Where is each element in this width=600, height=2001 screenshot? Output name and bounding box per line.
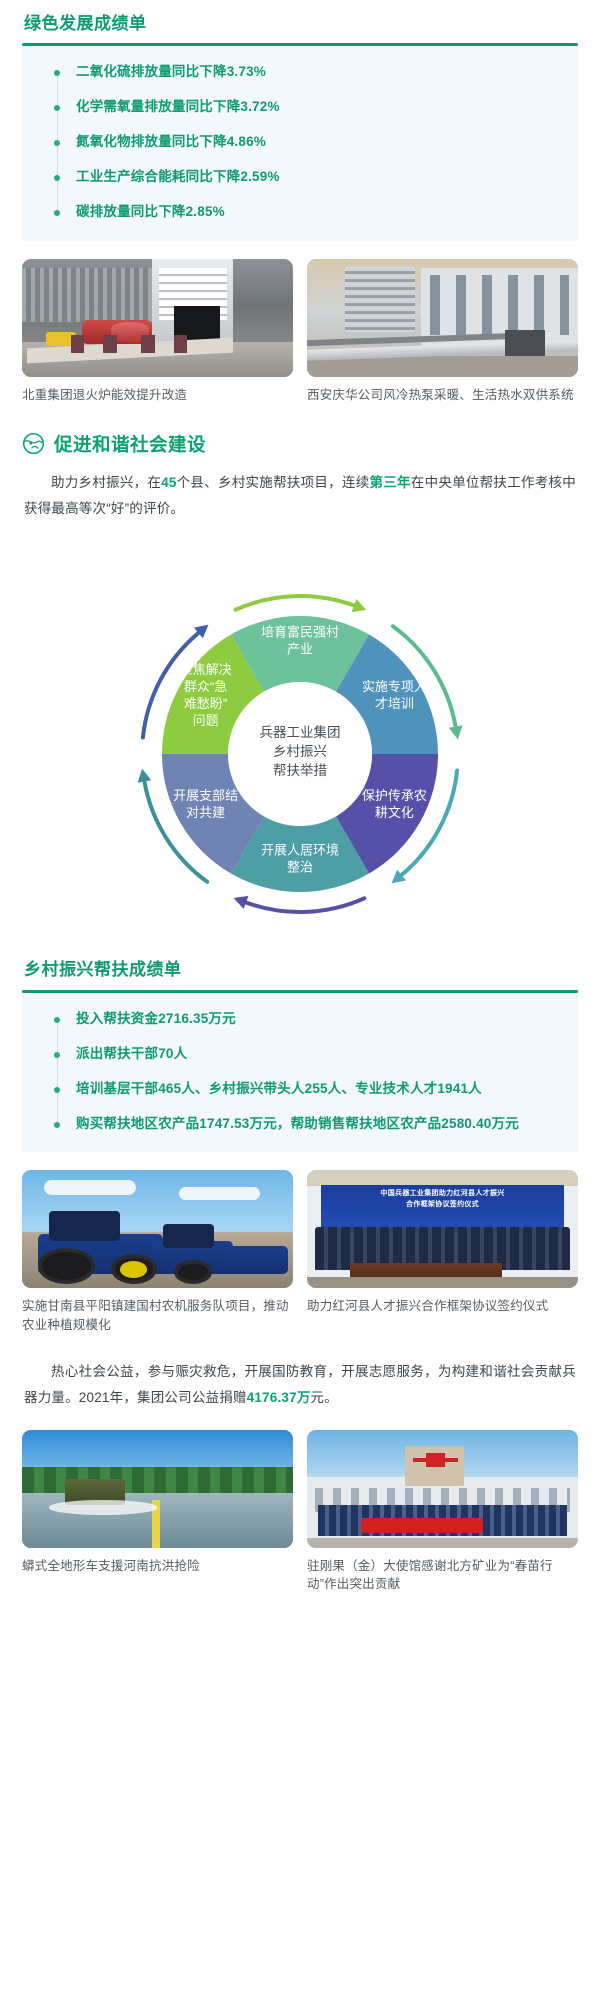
photo-cell: 北重集团退火炉能效提升改造 xyxy=(22,259,293,405)
green-scorecard-body: 二氧化硫排放量同比下降3.73% 化学需氧量排放量同比下降3.72% 氮氧化物排… xyxy=(22,46,578,241)
green-bullet-list: 二氧化硫排放量同比下降3.73% 化学需氧量排放量同比下降3.72% 氮氧化物排… xyxy=(54,62,560,223)
rural-bullet-list: 投入帮扶资金2716.35万元 派出帮扶干部70人 培训基层干部465人、乡村振… xyxy=(54,1009,560,1135)
para-highlight: 第三年 xyxy=(369,475,410,490)
donation-amount: 4176.37万 xyxy=(247,1390,311,1405)
welfare-photo-row: 蟒式全地形车支援河南抗洪抢险 驻刚果（金）大使馆感谢北方矿业为“春苗行动”作出突… xyxy=(22,1430,578,1595)
photo-caption: 实施甘南县平阳镇建国村农机服务队项目，推动农业种植规模化 xyxy=(22,1297,293,1335)
photo-cell: 实施甘南县平阳镇建国村农机服务队项目，推动农业种植规模化 xyxy=(22,1170,293,1335)
photo-heat-pump xyxy=(307,259,578,377)
para-part: 个县、乡村实施帮扶项目，连续 xyxy=(177,475,370,490)
green-scorecard: 绿色发展成绩单 二氧化硫排放量同比下降3.73% 化学需氧量排放量同比下降3.7… xyxy=(22,0,578,241)
list-item: 投入帮扶资金2716.35万元 xyxy=(54,1009,560,1030)
photo-caption: 西安庆华公司风冷热泵采暖、生活热水双供系统 xyxy=(307,386,578,405)
harmony-section-header: 促进和谐社会建设 xyxy=(22,431,578,457)
photo-cell: 西安庆华公司风冷热泵采暖、生活热水双供系统 xyxy=(307,259,578,405)
photo-vaccination-site xyxy=(307,1430,578,1548)
rural-scorecard: 乡村振兴帮扶成绩单 投入帮扶资金2716.35万元 派出帮扶干部70人 培训基层… xyxy=(22,946,578,1152)
signing-banner-text: 中国兵器工业集团助力红河县人才振兴 合作框架协议签约仪式 xyxy=(329,1189,557,1210)
photo-caption: 驻刚果（金）大使馆感谢北方矿业为“春苗行动”作出突出贡献 xyxy=(307,1557,578,1595)
article-page: 绿色发展成绩单 二氧化硫排放量同比下降3.73% 化学需氧量排放量同比下降3.7… xyxy=(0,0,600,1594)
photo-caption: 助力红河县人才振兴合作框架协议签约仪式 xyxy=(307,1297,578,1316)
photo-amphibious-vehicle xyxy=(22,1430,293,1548)
list-item: 氮氧化物排放量同比下降4.86% xyxy=(54,132,560,153)
list-item: 购买帮扶地区农产品1747.53万元，帮助销售帮扶地区农产品2580.40万元 xyxy=(54,1114,560,1135)
list-item: 工业生产综合能耗同比下降2.59% xyxy=(54,167,560,188)
list-item: 派出帮扶干部70人 xyxy=(54,1044,560,1065)
arrow-bottom-right xyxy=(246,899,364,913)
para-highlight: 45 xyxy=(161,475,176,490)
photo-tractors xyxy=(22,1170,293,1288)
green-photo-row: 北重集团退火炉能效提升改造 西安庆华公司风冷热泵采暖、生活热水双供系统 xyxy=(22,259,578,405)
welfare-paragraph: 热心社会公益，参与赈灾救危，开展国防教育，开展志愿服务，为构建和谐社会贡献兵器力… xyxy=(24,1359,576,1412)
photo-caption: 蟒式全地形车支援河南抗洪抢险 xyxy=(22,1557,293,1576)
green-scorecard-title: 绿色发展成绩单 xyxy=(22,0,578,43)
photo-furnace xyxy=(22,259,293,377)
photo-cell: 中国兵器工业集团助力红河县人才振兴 合作框架协议签约仪式 助力红河县人才振兴合作… xyxy=(307,1170,578,1335)
rural-scorecard-body: 投入帮扶资金2716.35万元 派出帮扶干部70人 培训基层干部465人、乡村振… xyxy=(22,993,578,1153)
arrow-bottom-left-head xyxy=(138,769,152,783)
arrow-top-right-head xyxy=(449,726,463,740)
para-part: 助力乡村振兴，在 xyxy=(51,475,161,490)
section-title: 促进和谐社会建设 xyxy=(54,431,206,457)
harmony-paragraph: 助力乡村振兴，在45个县、乡村实施帮扶项目，连续第三年在中央单位帮扶工作考核中获… xyxy=(24,470,576,523)
photo-cell: 驻刚果（金）大使馆感谢北方矿业为“春苗行动”作出突出贡献 xyxy=(307,1430,578,1595)
rural-revitalization-donut-chart: 兵器工业集团乡村振兴帮扶举措 培育富民强村产业实施专项人才培训保护传承农耕文化开… xyxy=(0,542,600,942)
list-item: 碳排放量同比下降2.85% xyxy=(54,202,560,223)
list-item: 培训基层干部465人、乡村振兴带头人255人、专业技术人才1941人 xyxy=(54,1079,560,1100)
list-item: 二氧化硫排放量同比下降3.73% xyxy=(54,62,560,83)
para-part: 元。 xyxy=(311,1390,338,1405)
rural-scorecard-title: 乡村振兴帮扶成绩单 xyxy=(22,946,578,989)
photo-caption: 北重集团退火炉能效提升改造 xyxy=(22,386,293,405)
arrow-top-left xyxy=(236,596,354,610)
photo-cell: 蟒式全地形车支援河南抗洪抢险 xyxy=(22,1430,293,1595)
photo-signing-ceremony: 中国兵器工业集团助力红河县人才振兴 合作框架协议签约仪式 xyxy=(307,1170,578,1288)
rural-photo-row: 实施甘南县平阳镇建国村农机服务队项目，推动农业种植规模化 中国兵器工业集团助力红… xyxy=(22,1170,578,1335)
globe-people-icon xyxy=(22,432,45,455)
list-item: 化学需氧量排放量同比下降3.72% xyxy=(54,97,560,118)
